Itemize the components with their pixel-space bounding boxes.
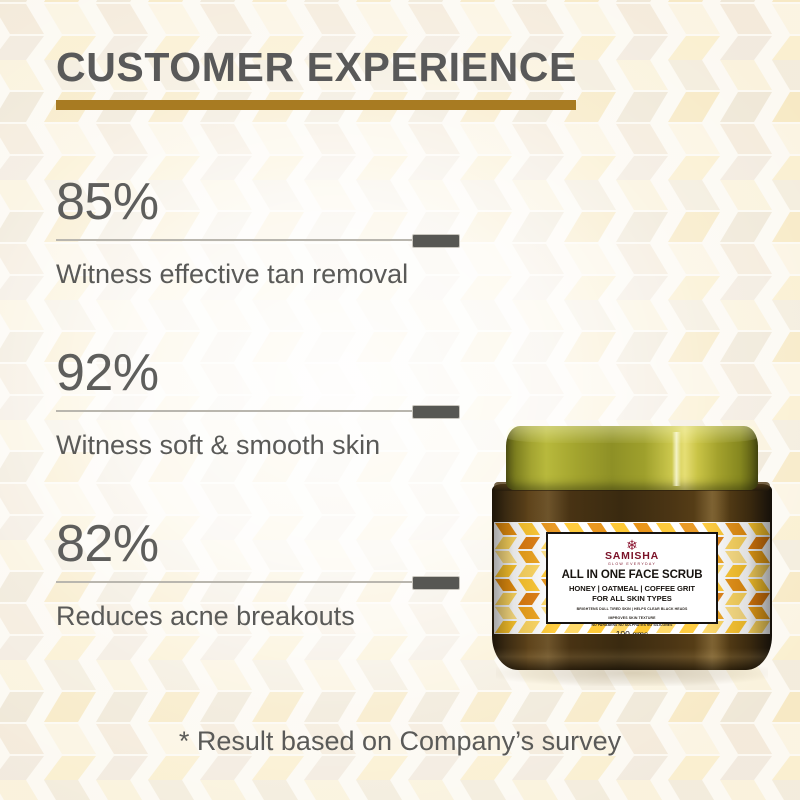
product-claims-line-1: BRIGHTENS DULL TIRED SKIN | HELPS CLEAR … — [548, 607, 716, 612]
brand-name: SAMISHA — [548, 551, 716, 562]
stat-progress-bar — [56, 405, 460, 417]
product-name: ALL IN ONE FACE SCRUB — [548, 570, 716, 582]
jar-lid — [506, 426, 758, 490]
product-free-from: NO PARABENS NO SULPHATES NO SILICONES — [548, 624, 716, 627]
stat-progress-knob — [412, 576, 460, 590]
product-jar-image: ❄ SAMISHA GLOW EVERYDAY ALL IN ONE FACE … — [486, 418, 778, 678]
stat-label: Reduces acne breakouts — [56, 601, 476, 632]
stat-value: 92% — [56, 347, 476, 400]
label-text-card: ❄ SAMISHA GLOW EVERYDAY ALL IN ONE FACE … — [546, 532, 718, 624]
product-claims-line-2: IMPROVES SKIN TEXTURE — [548, 616, 716, 621]
stat-progress-track — [56, 410, 460, 412]
stat-progress-track — [56, 581, 460, 583]
stat-label: Witness effective tan removal — [56, 259, 476, 290]
stats-list: 85% Witness effective tan removal 92% Wi… — [56, 176, 476, 632]
page-title: CUSTOMER EXPERIENCE — [56, 46, 577, 89]
stat-item: 85% Witness effective tan removal — [56, 176, 476, 290]
stat-progress-track — [56, 239, 460, 241]
jar-label: ❄ SAMISHA GLOW EVERYDAY ALL IN ONE FACE … — [494, 522, 770, 634]
stat-progress-knob — [412, 234, 460, 248]
product-net-weight: 100 gms — [548, 630, 716, 634]
stat-item: 92% Witness soft & smooth skin — [56, 347, 476, 461]
product-skin-types: FOR ALL SKIN TYPES — [548, 595, 716, 603]
stat-progress-bar — [56, 234, 460, 246]
stat-item: 82% Reduces acne breakouts — [56, 518, 476, 632]
stat-value: 82% — [56, 518, 476, 571]
jar-lid-highlight — [672, 432, 681, 486]
stat-progress-knob — [412, 405, 460, 419]
brand-tagline: GLOW EVERYDAY — [548, 563, 716, 567]
poster-header: CUSTOMER EXPERIENCE — [56, 46, 577, 110]
survey-disclaimer: * Result based on Company’s survey — [0, 726, 800, 757]
stat-label: Witness soft & smooth skin — [56, 430, 476, 461]
jar-body-base-shading — [492, 648, 772, 670]
product-ingredients: HONEY | OATMEAL | COFFEE GRIT — [548, 585, 716, 593]
title-underline-rule — [56, 100, 576, 110]
stat-progress-bar — [56, 576, 460, 588]
jar-lid-top-face — [506, 426, 758, 443]
stat-value: 85% — [56, 176, 476, 229]
customer-experience-poster: CUSTOMER EXPERIENCE 85% Witness effectiv… — [0, 0, 800, 800]
